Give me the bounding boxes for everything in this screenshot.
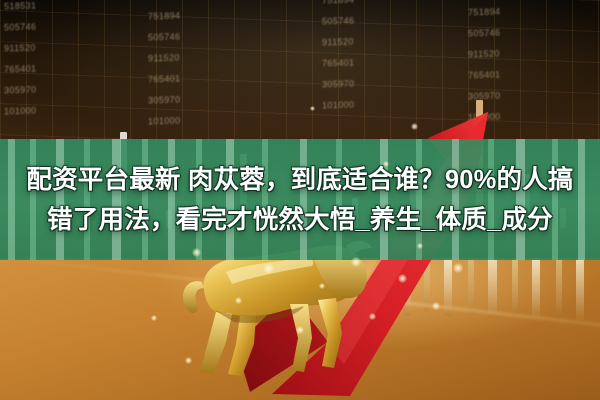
floor-bar (556, 258, 562, 318)
floor-bar (576, 258, 584, 322)
headline-text: 配资平台最新 肉苁蓉，到底适合谁？90%的人搞 错了用法，看完才恍然大悟_养生_… (0, 160, 600, 240)
golden-bull-icon (170, 238, 380, 388)
headline-line-1: 配资平台最新 肉苁蓉，到底适合谁？90%的人搞 (0, 160, 600, 200)
price-column: 751894 505746 911520 765401 305970 10100… (148, 6, 180, 133)
floor-bar (532, 258, 540, 320)
price-column: 518531 505746 911520 765401 305970 10100… (4, 0, 36, 122)
banner-image: 518531 505746 911520 765401 305970 10100… (0, 0, 600, 400)
floor-bar (512, 258, 518, 316)
headline-line-2: 错了用法，看完才恍然大悟_养生_体质_成分 (0, 200, 600, 240)
